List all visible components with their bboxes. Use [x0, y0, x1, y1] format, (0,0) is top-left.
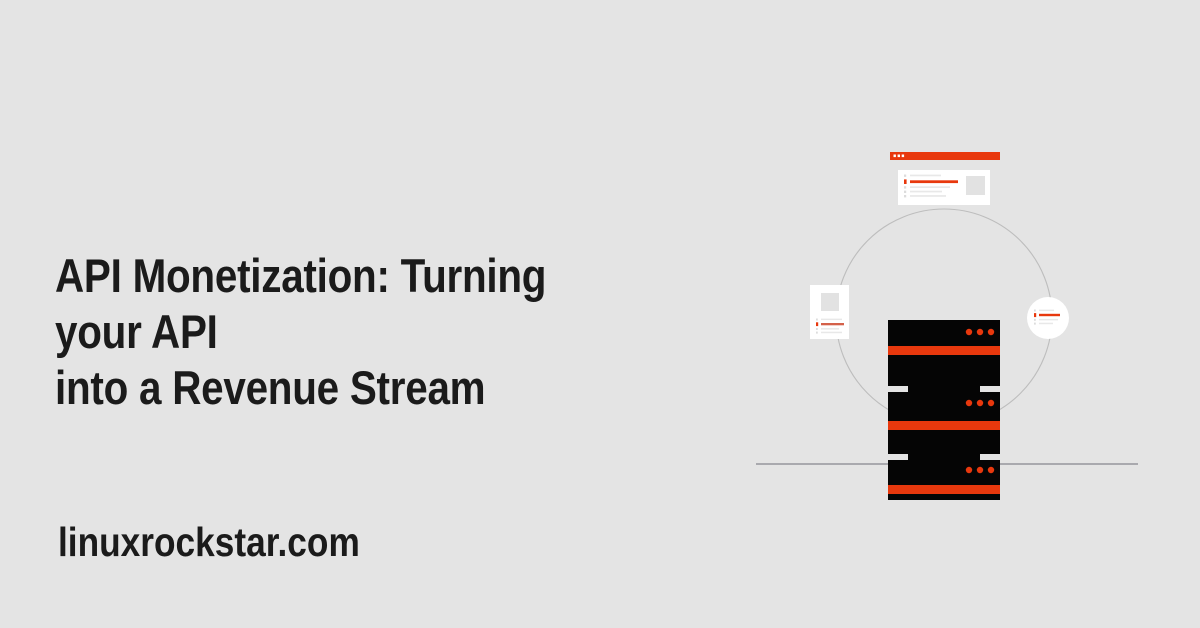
- page-title: API Monetization: Turning your API into …: [55, 248, 605, 416]
- site-name: linuxrockstar.com: [58, 518, 360, 566]
- browser-window-card-icon: [890, 152, 1000, 205]
- api-server-ecosystem-illustration: [740, 120, 1160, 500]
- headline-block: API Monetization: Turning your API into …: [55, 248, 695, 416]
- circle-badge-icon: [1027, 297, 1069, 339]
- server-rack-icon: [888, 320, 1000, 500]
- document-card-icon: [810, 285, 849, 339]
- social-share-card: API Monetization: Turning your API into …: [0, 0, 1200, 628]
